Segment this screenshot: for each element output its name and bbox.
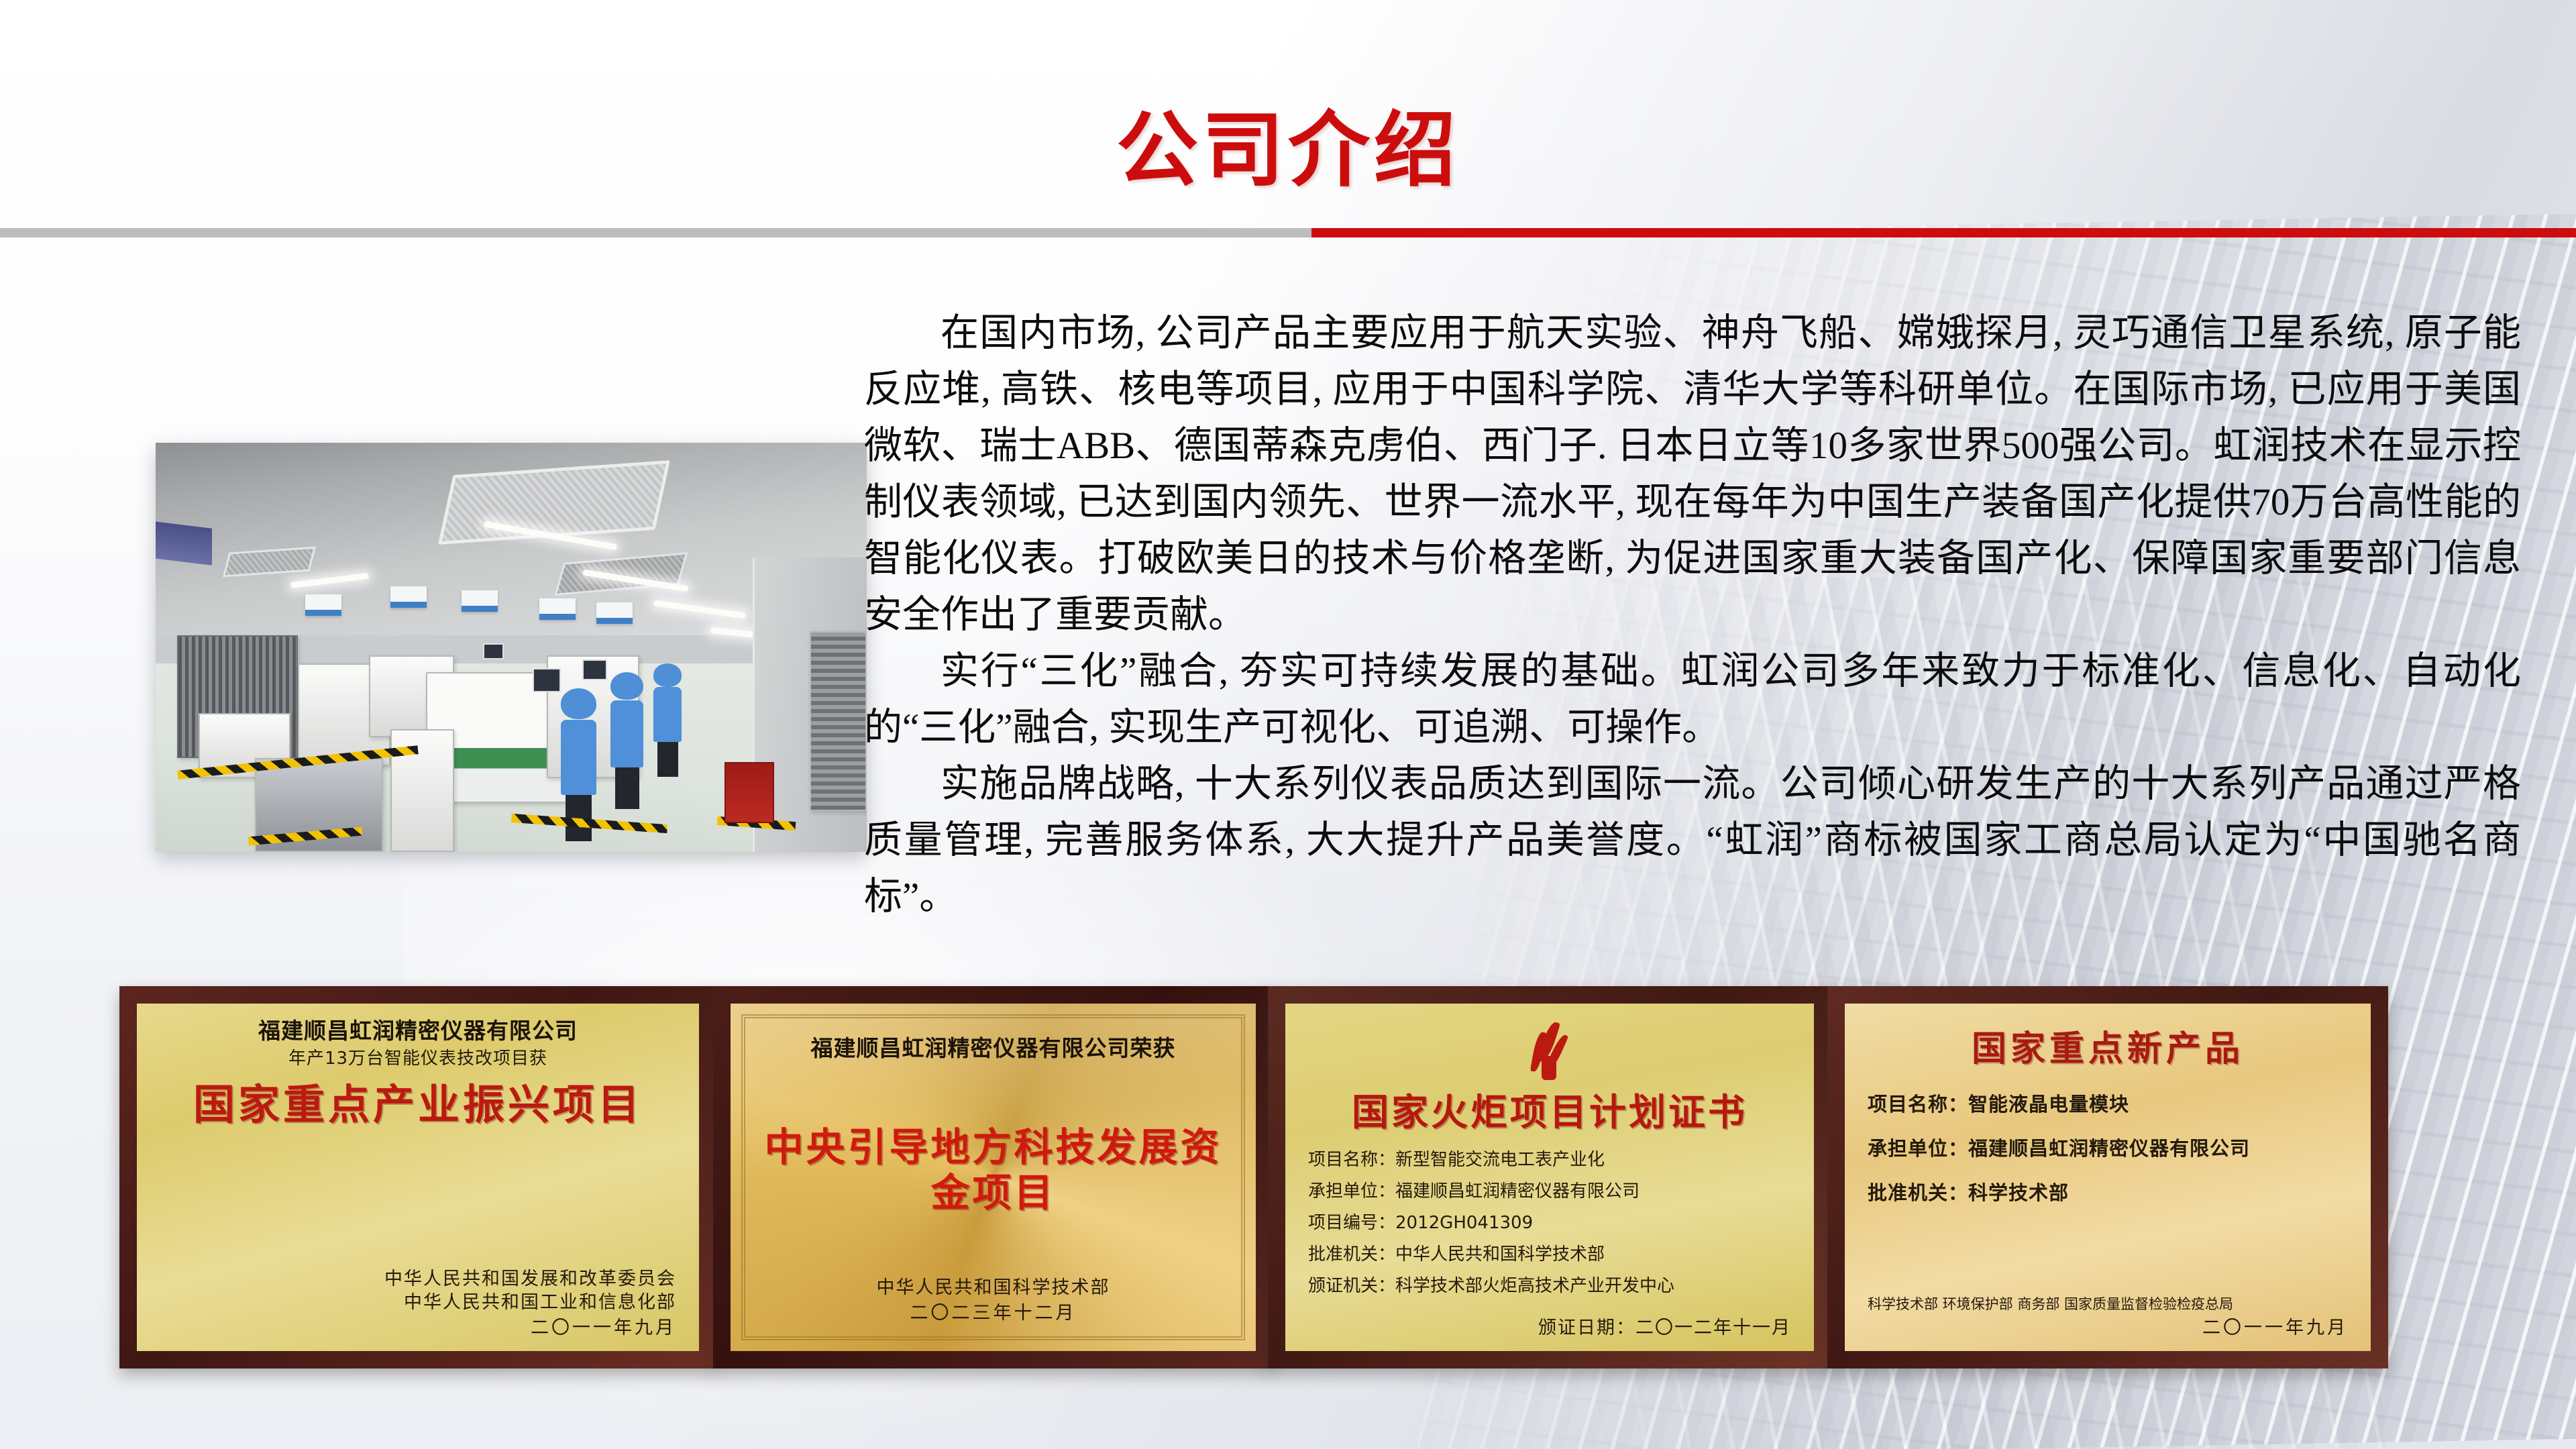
factory-photo <box>156 443 867 852</box>
wall-banner <box>156 521 213 566</box>
paragraph-3: 实施品牌战略, 十大系列仪表品质达到国际一流。公司倾心研发生产的十大系列产品通过… <box>864 756 2521 925</box>
plaque3-value-project-name: 新型智能交流电工表产业化 <box>1395 1150 1605 1170</box>
plaque3-label-undertaker: 承担单位： <box>1308 1181 1395 1201</box>
plaque1-issuer-2: 中华人民共和国工业和信息化部 <box>160 1292 676 1313</box>
plaque3-value-approver: 中华人民共和国科学技术部 <box>1395 1244 1605 1265</box>
station-sign <box>390 586 427 608</box>
page-title: 公司介绍 <box>0 84 2576 203</box>
plaque1-issuer-1: 中华人民共和国发展和改革委员会 <box>160 1269 676 1290</box>
plaque2-company: 福建顺昌虹润精密仪器有限公司荣获 <box>753 1036 1233 1062</box>
plaque3-label-approver: 批准机关： <box>1308 1244 1395 1265</box>
machine-screen <box>483 643 504 659</box>
plaque1-date: 二〇一一年九月 <box>160 1318 676 1339</box>
plaque4-agencies: 科学技术部 环境保护部 商务部 国家质量监督检验检疫总局 <box>1868 1293 2348 1313</box>
body-copy: 在国内市场, 公司产品主要应用于航天实验、神舟飞船、嫦娥探月, 灵巧通信卫星系统… <box>864 305 2521 925</box>
plaque4-award: 国家重点新产品 <box>1868 1029 2348 1070</box>
certificate-gallery: 福建顺昌虹润精密仪器有限公司 年产13万台智能仪表技改项目获 国家重点产业振兴项… <box>0 986 2576 1368</box>
plaque4-label-undertaker: 承担单位： <box>1868 1137 1968 1160</box>
plaque4-value-undertaker: 福建顺昌虹润精密仪器有限公司 <box>1968 1137 2250 1160</box>
certificate-plaque-1[interactable]: 福建顺昌虹润精密仪器有限公司 年产13万台智能仪表技改项目获 国家重点产业振兴项… <box>119 986 716 1368</box>
plaque3-date-value: 二〇一二年十一月 <box>1635 1318 1791 1338</box>
plaque4-value-project-name: 智能液晶电量模块 <box>1968 1093 2129 1116</box>
plaque4-label-approver: 批准机关： <box>1868 1181 1968 1204</box>
plaque2-award: 中央引导地方科技发展资金项目 <box>753 1124 1233 1216</box>
slide-canvas: 公司介绍 <box>0 0 2576 1449</box>
plaque3-issue-date: 颁证日期：二〇一二年十一月 <box>1308 1318 1791 1339</box>
plaque4-field-project-name: 项目名称：智能液晶电量模块 <box>1868 1089 2348 1117</box>
plaque4-date: 二〇一一年九月 <box>1868 1318 2348 1339</box>
plaque4-label-project-name: 项目名称： <box>1868 1093 1968 1116</box>
plaque1-subtitle: 年产13万台智能仪表技改项目获 <box>160 1049 676 1069</box>
plaque3-field-approver: 批准机关：中华人民共和国科学技术部 <box>1308 1240 1791 1265</box>
plaque3-label-project-number: 项目编号： <box>1308 1213 1395 1233</box>
divider-red-segment <box>1311 228 2576 237</box>
machine-screen <box>533 668 561 693</box>
plaque3-value-project-number: 2012GH041309 <box>1395 1213 1533 1233</box>
torch-icon <box>1531 1021 1568 1083</box>
plaque3-date-label: 颁证日期： <box>1538 1318 1635 1338</box>
divider-gray-segment <box>0 228 1311 237</box>
certificate-plaque-2[interactable]: 福建顺昌虹润精密仪器有限公司荣获 中央引导地方科技发展资金项目 中华人民共和国科… <box>713 986 1273 1368</box>
plaque3-field-undertaker: 承担单位：福建顺昌虹润精密仪器有限公司 <box>1308 1177 1791 1202</box>
plaque3-field-project-number: 项目编号：2012GH041309 <box>1308 1209 1791 1234</box>
paragraph-1: 在国内市场, 公司产品主要应用于航天实验、神舟飞船、嫦娥探月, 灵巧通信卫星系统… <box>864 305 2521 643</box>
plaque1-company: 福建顺昌虹润精密仪器有限公司 <box>160 1018 676 1044</box>
station-sign <box>305 594 341 616</box>
plaque3-value-undertaker: 福建顺昌虹润精密仪器有限公司 <box>1395 1181 1640 1201</box>
plaque2-date: 二〇二三年十二月 <box>753 1303 1233 1324</box>
plaque4-value-approver: 科学技术部 <box>1968 1181 2069 1204</box>
plaque3-field-issuer: 颁证机关：科学技术部火炬高技术产业开发中心 <box>1308 1272 1791 1297</box>
certificate-plaque-4[interactable]: 国家重点新产品 项目名称：智能液晶电量模块 承担单位：福建顺昌虹润精密仪器有限公… <box>1827 986 2388 1368</box>
station-sign <box>539 598 576 620</box>
certificate-plaque-3[interactable]: 国家火炬项目计划证书 项目名称：新型智能交流电工表产业化 承担单位：福建顺昌虹润… <box>1268 986 1831 1368</box>
plaque4-field-approver: 批准机关：科学技术部 <box>1868 1177 2348 1205</box>
station-sign <box>596 602 633 624</box>
machine-screen <box>582 659 607 680</box>
station-sign <box>462 590 498 612</box>
machine <box>810 631 867 811</box>
plaque1-award: 国家重点产业振兴项目 <box>160 1080 676 1129</box>
plaque2-issuer-1: 中华人民共和国科学技术部 <box>753 1277 1233 1299</box>
worker <box>653 663 682 778</box>
paragraph-2: 实行“三化”融合, 夯实可持续发展的基础。虹润公司多年来致力于标准化、信息化、自… <box>864 643 2521 756</box>
plaque4-field-undertaker: 承担单位：福建顺昌虹润精密仪器有限公司 <box>1868 1133 2348 1161</box>
plaque3-value-issuer: 科学技术部火炬高技术产业开发中心 <box>1395 1276 1674 1296</box>
plaque3-label-project-name: 项目名称： <box>1308 1150 1395 1170</box>
plaque3-award: 国家火炬项目计划证书 <box>1308 1091 1791 1134</box>
plaque3-label-issuer: 颁证机关： <box>1308 1276 1395 1296</box>
header-divider <box>0 228 2576 237</box>
plaque3-field-project-name: 项目名称：新型智能交流电工表产业化 <box>1308 1146 1791 1171</box>
red-standee-sign <box>724 762 774 824</box>
worker <box>610 672 643 811</box>
